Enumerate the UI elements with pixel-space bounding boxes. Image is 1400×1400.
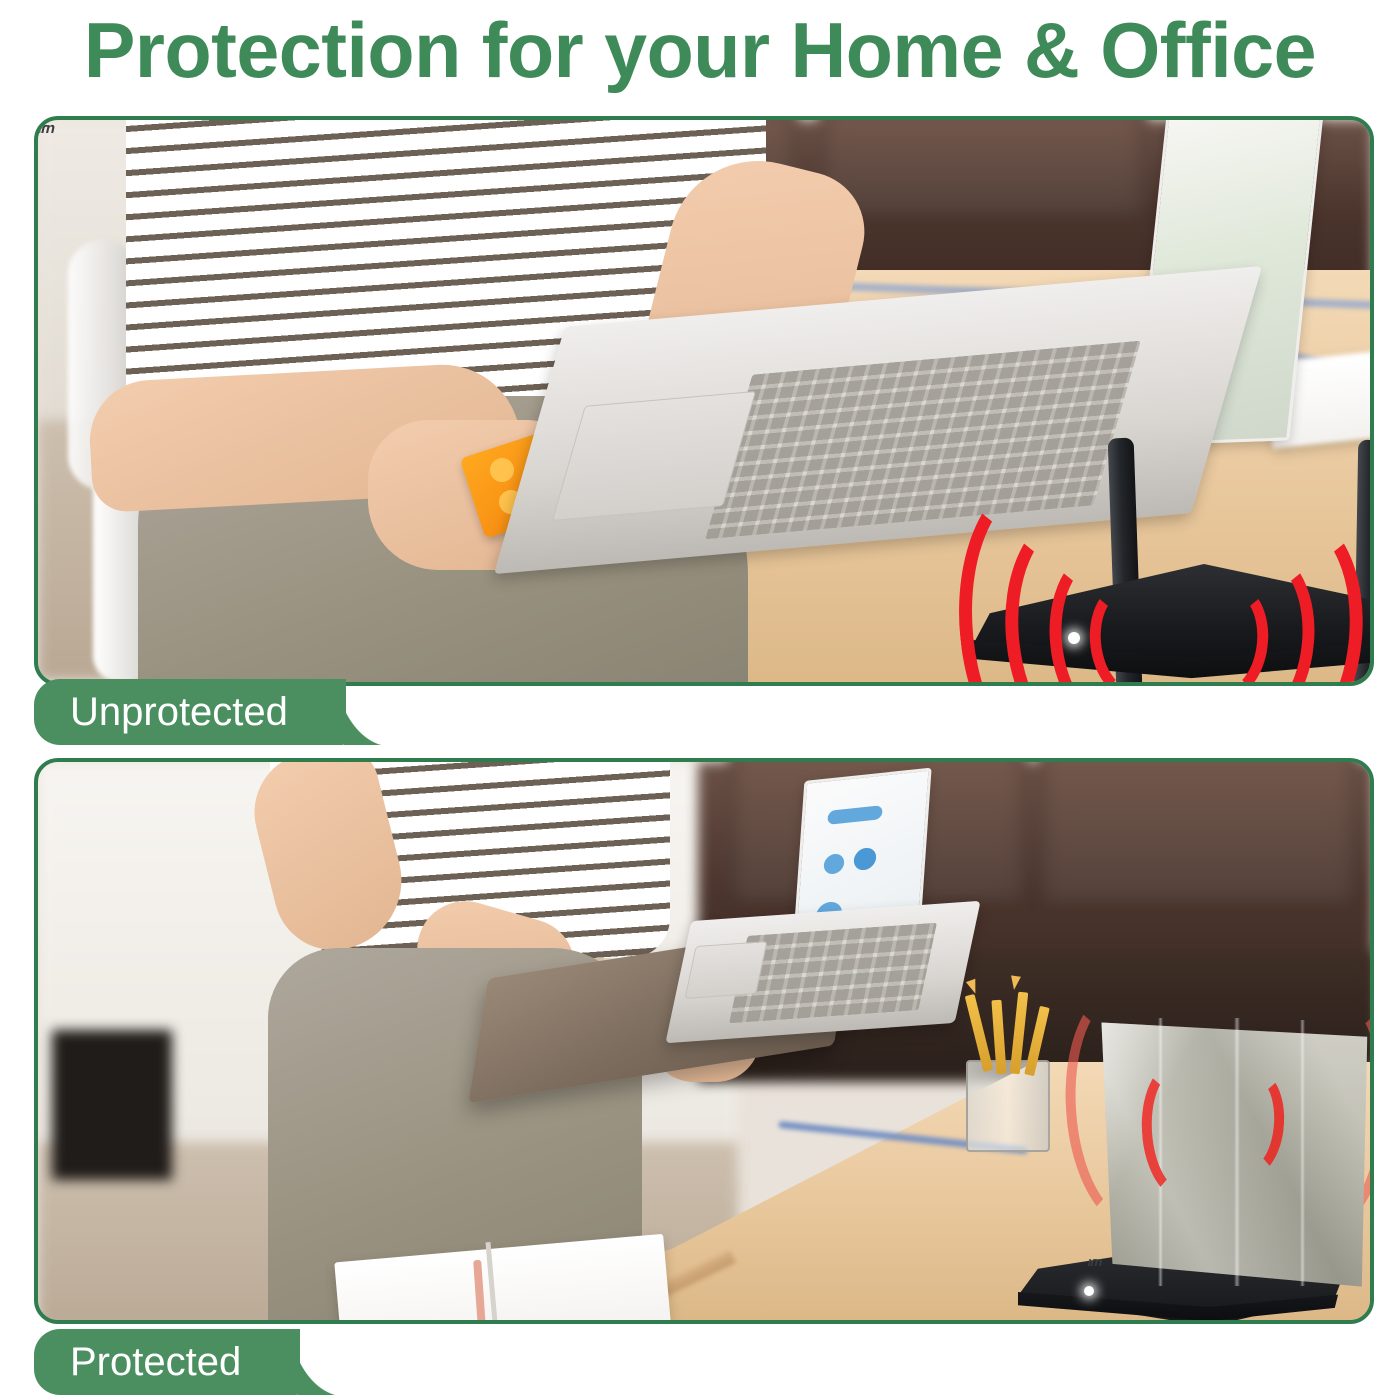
sofa-cushion (818, 120, 1148, 216)
sofa-cushion (1038, 762, 1358, 904)
badge-unprotected-label: Unprotected (70, 692, 288, 732)
laptop-trackpad (684, 941, 767, 999)
badge-protected-label: Protected (70, 1342, 241, 1382)
badge-protected: Protected (34, 1329, 300, 1395)
panel-unprotected: ıɾn (34, 116, 1374, 686)
router-logo: ıɾn (1086, 1254, 1103, 1269)
router-status-led (1084, 1286, 1094, 1296)
scene-unprotected: ıɾn (38, 120, 1370, 682)
badge-unprotected: Unprotected (34, 679, 346, 745)
pencil-cup (966, 1060, 1050, 1152)
scene-protected: ıɾn (38, 762, 1370, 1320)
pouch-crease (1300, 1020, 1305, 1286)
pencil-tip-icon (1009, 975, 1021, 990)
dark-cabinet (52, 1030, 172, 1180)
panel-protected: ıɾn (34, 758, 1374, 1324)
page-title: Protection for your Home & Office (7, 2, 1393, 98)
